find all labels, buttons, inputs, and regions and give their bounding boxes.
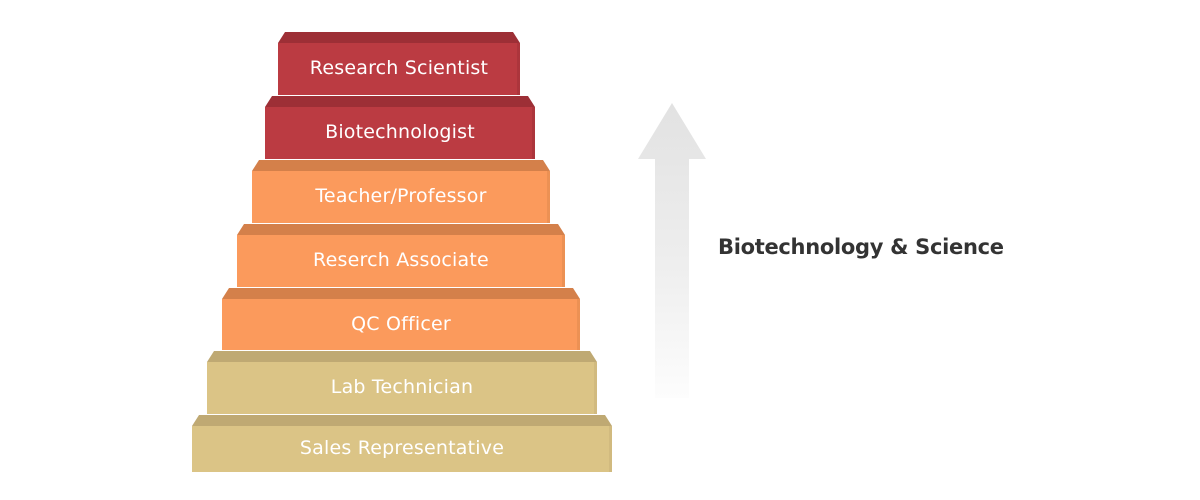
progression-arrow-icon: [630, 95, 720, 410]
pyramid-tier-bevel: [278, 32, 520, 43]
pyramid-tier-bevel: [207, 351, 597, 362]
pyramid-tier-shape: [192, 415, 612, 472]
pyramid-tier[interactable]: Teacher/Professor: [252, 160, 550, 223]
pyramid-tier[interactable]: Biotechnologist: [265, 96, 535, 159]
career-pyramid: Research ScientistBiotechnologistTeacher…: [0, 0, 640, 500]
pyramid-tier-face: [207, 362, 597, 414]
pyramid-tier-face: [252, 171, 550, 223]
pyramid-tier-bevel: [265, 96, 535, 107]
pyramid-tier-shape: [237, 224, 565, 287]
pyramid-tier-side: [532, 107, 535, 159]
pyramid-tier-side: [609, 426, 612, 472]
pyramid-tier-side: [547, 171, 550, 223]
pyramid-tier-shape: [278, 32, 520, 95]
pyramid-tier-face: [237, 235, 565, 287]
pyramid-tier-face: [278, 43, 520, 95]
progression-arrow: [630, 95, 720, 410]
pyramid-tier-face: [265, 107, 535, 159]
pyramid-tier-shape: [252, 160, 550, 223]
pyramid-tier-face: [192, 426, 612, 472]
pyramid-tier-side: [594, 362, 597, 414]
pyramid-tier-bevel: [237, 224, 565, 235]
pyramid-tier-bevel: [192, 415, 612, 426]
pyramid-tier[interactable]: Lab Technician: [207, 351, 597, 414]
pyramid-tier[interactable]: Sales Representative: [192, 415, 612, 472]
pyramid-tier[interactable]: Research Scientist: [278, 32, 520, 95]
chart-canvas: Research ScientistBiotechnologistTeacher…: [0, 0, 1200, 500]
pyramid-tier-side: [562, 235, 565, 287]
pyramid-tier[interactable]: Reserch Associate: [237, 224, 565, 287]
chart-title: Biotechnology & Science: [718, 235, 1118, 259]
pyramid-tier-shape: [265, 96, 535, 159]
pyramid-tier-side: [517, 43, 520, 95]
pyramid-tier[interactable]: QC Officer: [222, 288, 580, 350]
pyramid-tier-bevel: [252, 160, 550, 171]
pyramid-tier-face: [222, 299, 580, 350]
pyramid-tier-bevel: [222, 288, 580, 299]
pyramid-tier-shape: [207, 351, 597, 414]
pyramid-tier-shape: [222, 288, 580, 350]
pyramid-tier-side: [577, 299, 580, 350]
